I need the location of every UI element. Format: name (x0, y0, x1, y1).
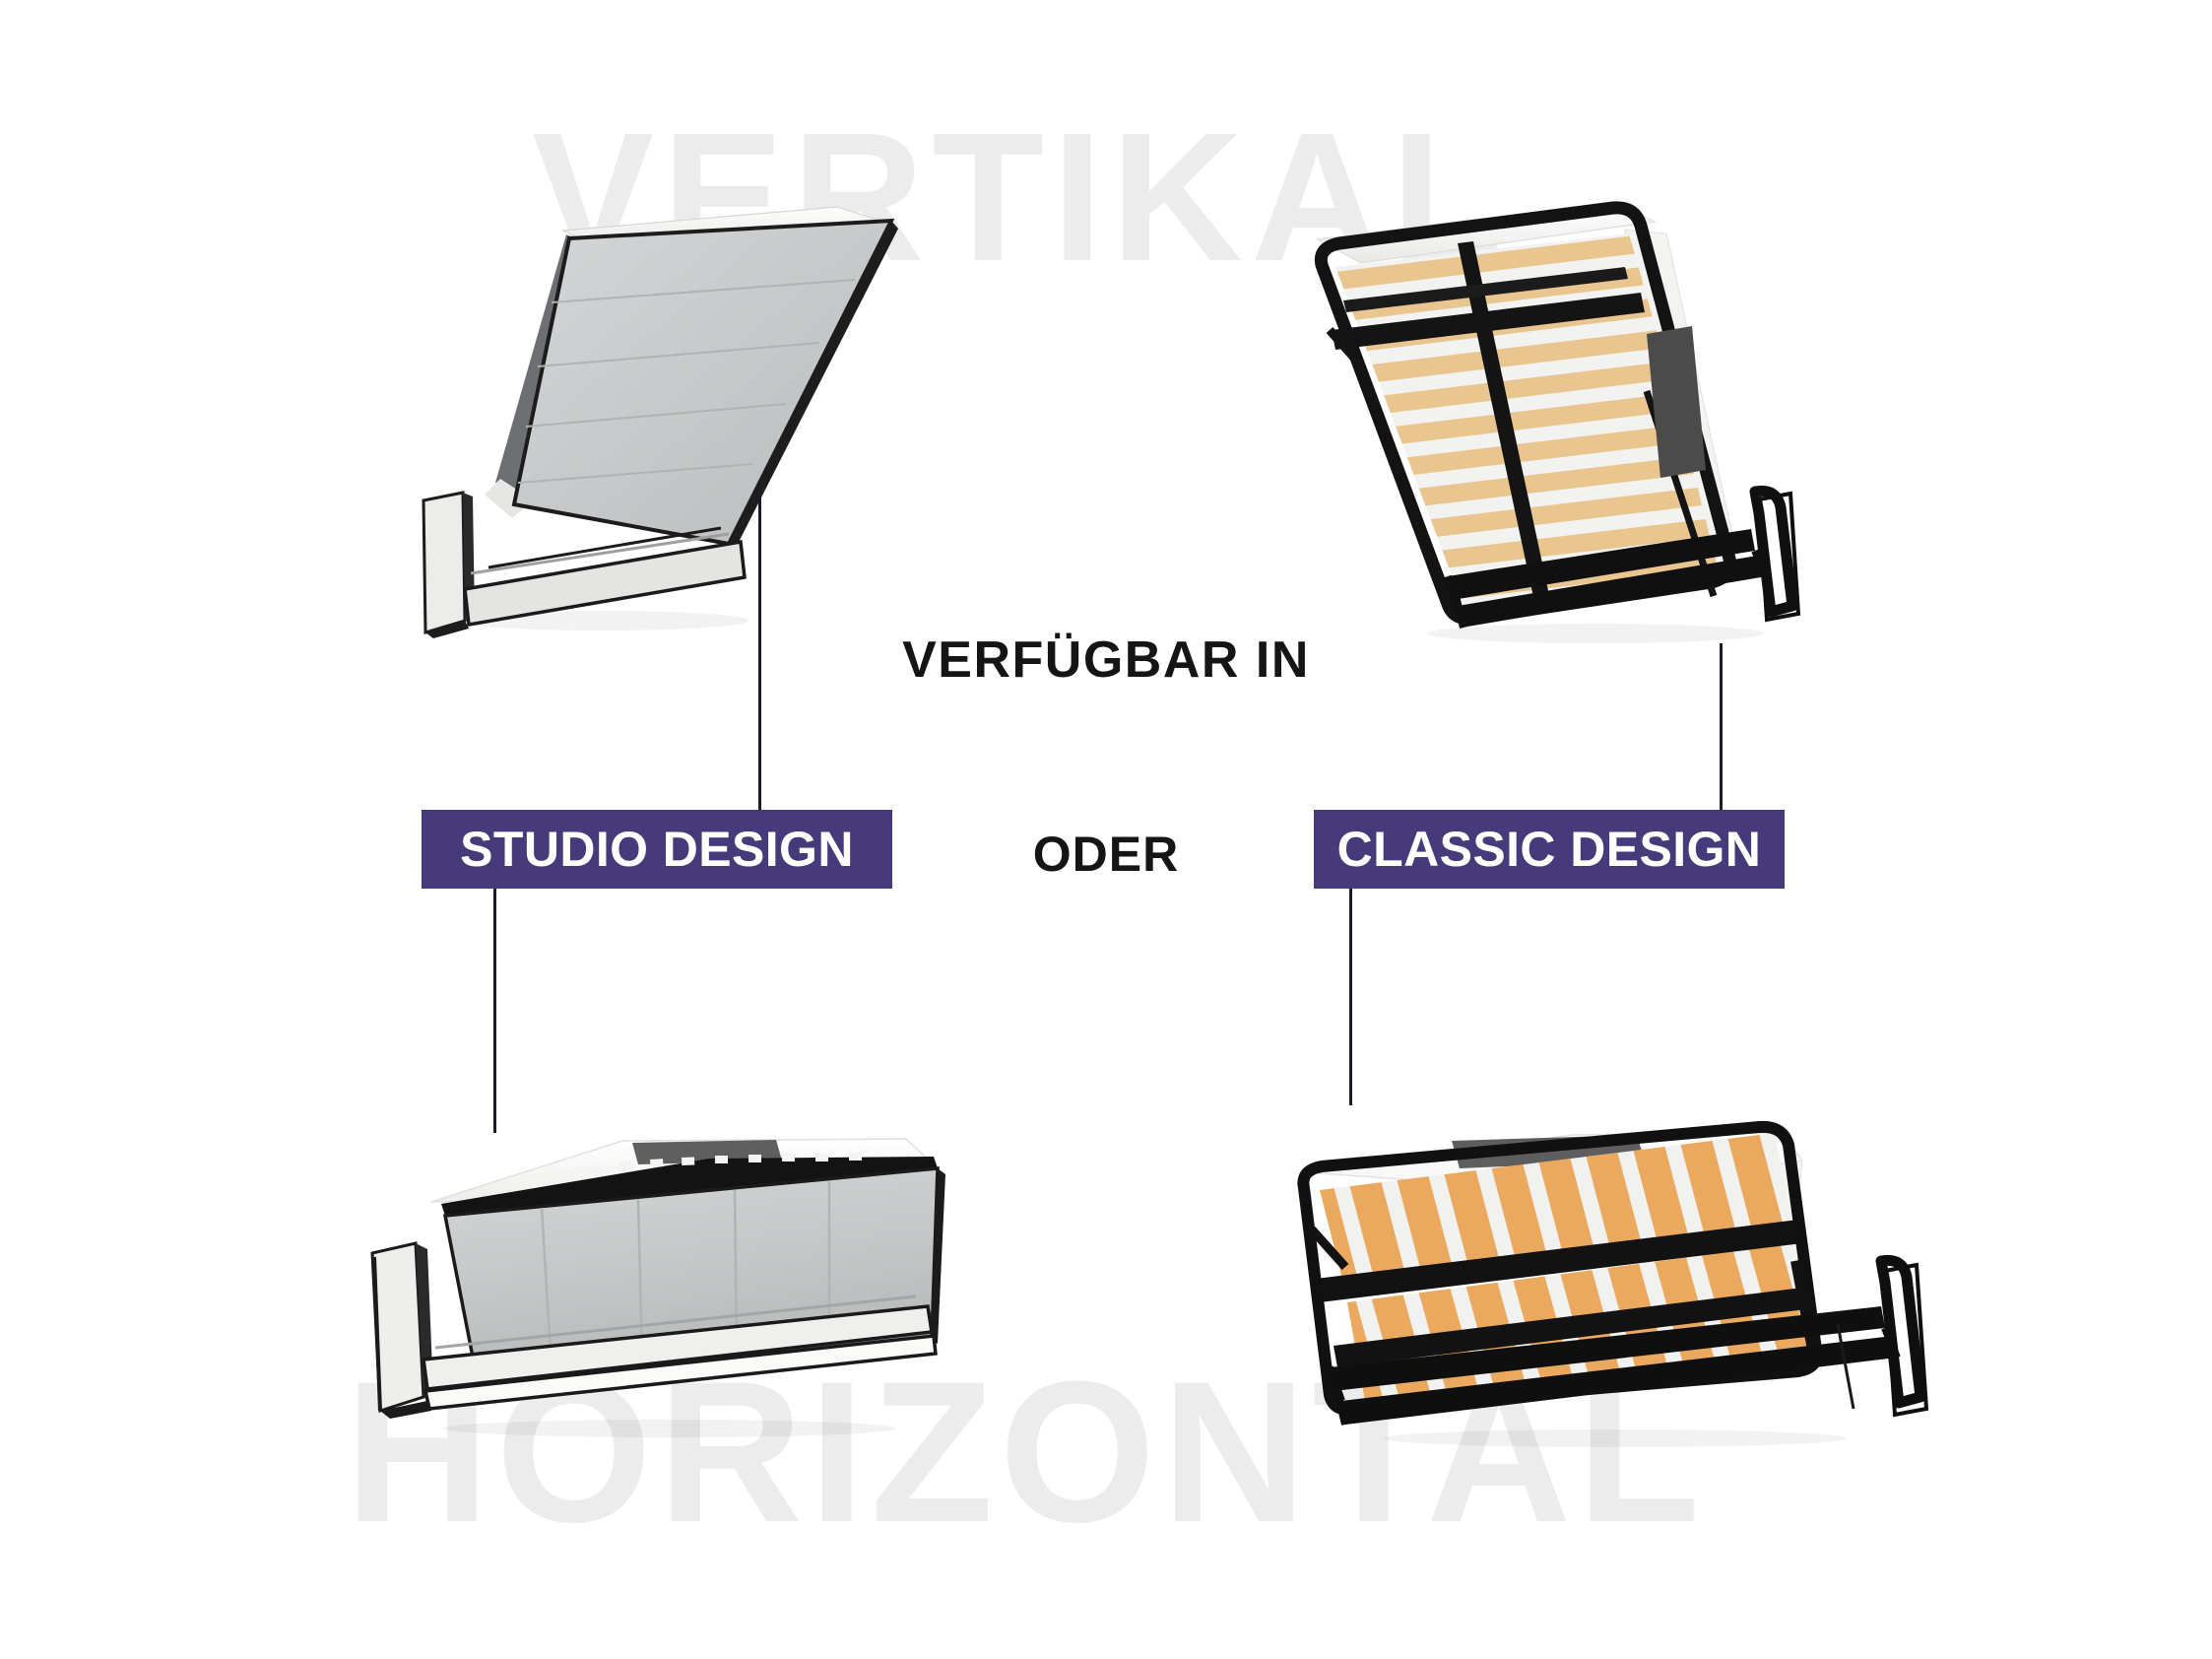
connector-line-horizontal-classic (1349, 889, 1352, 1105)
connector-line-vertical-studio (758, 494, 761, 812)
poster-canvas: VERTIKAL HORIZONTAL (0, 0, 2212, 1659)
product-vertical-studio (394, 187, 965, 640)
product-horizontal-studio (355, 1113, 985, 1438)
connector-line-vertical-classic (1720, 643, 1723, 812)
headline-available-in: VERFÜGBAR IN (902, 630, 1310, 690)
headline-conjunction-or: ODER (1033, 826, 1179, 883)
badge-studio-design[interactable]: STUDIO DESIGN (422, 810, 892, 889)
product-vertical-classic (1300, 182, 1891, 650)
product-horizontal-classic (1290, 1113, 1940, 1448)
connector-line-horizontal-studio (493, 889, 496, 1133)
badge-classic-design[interactable]: CLASSIC DESIGN (1314, 810, 1785, 889)
